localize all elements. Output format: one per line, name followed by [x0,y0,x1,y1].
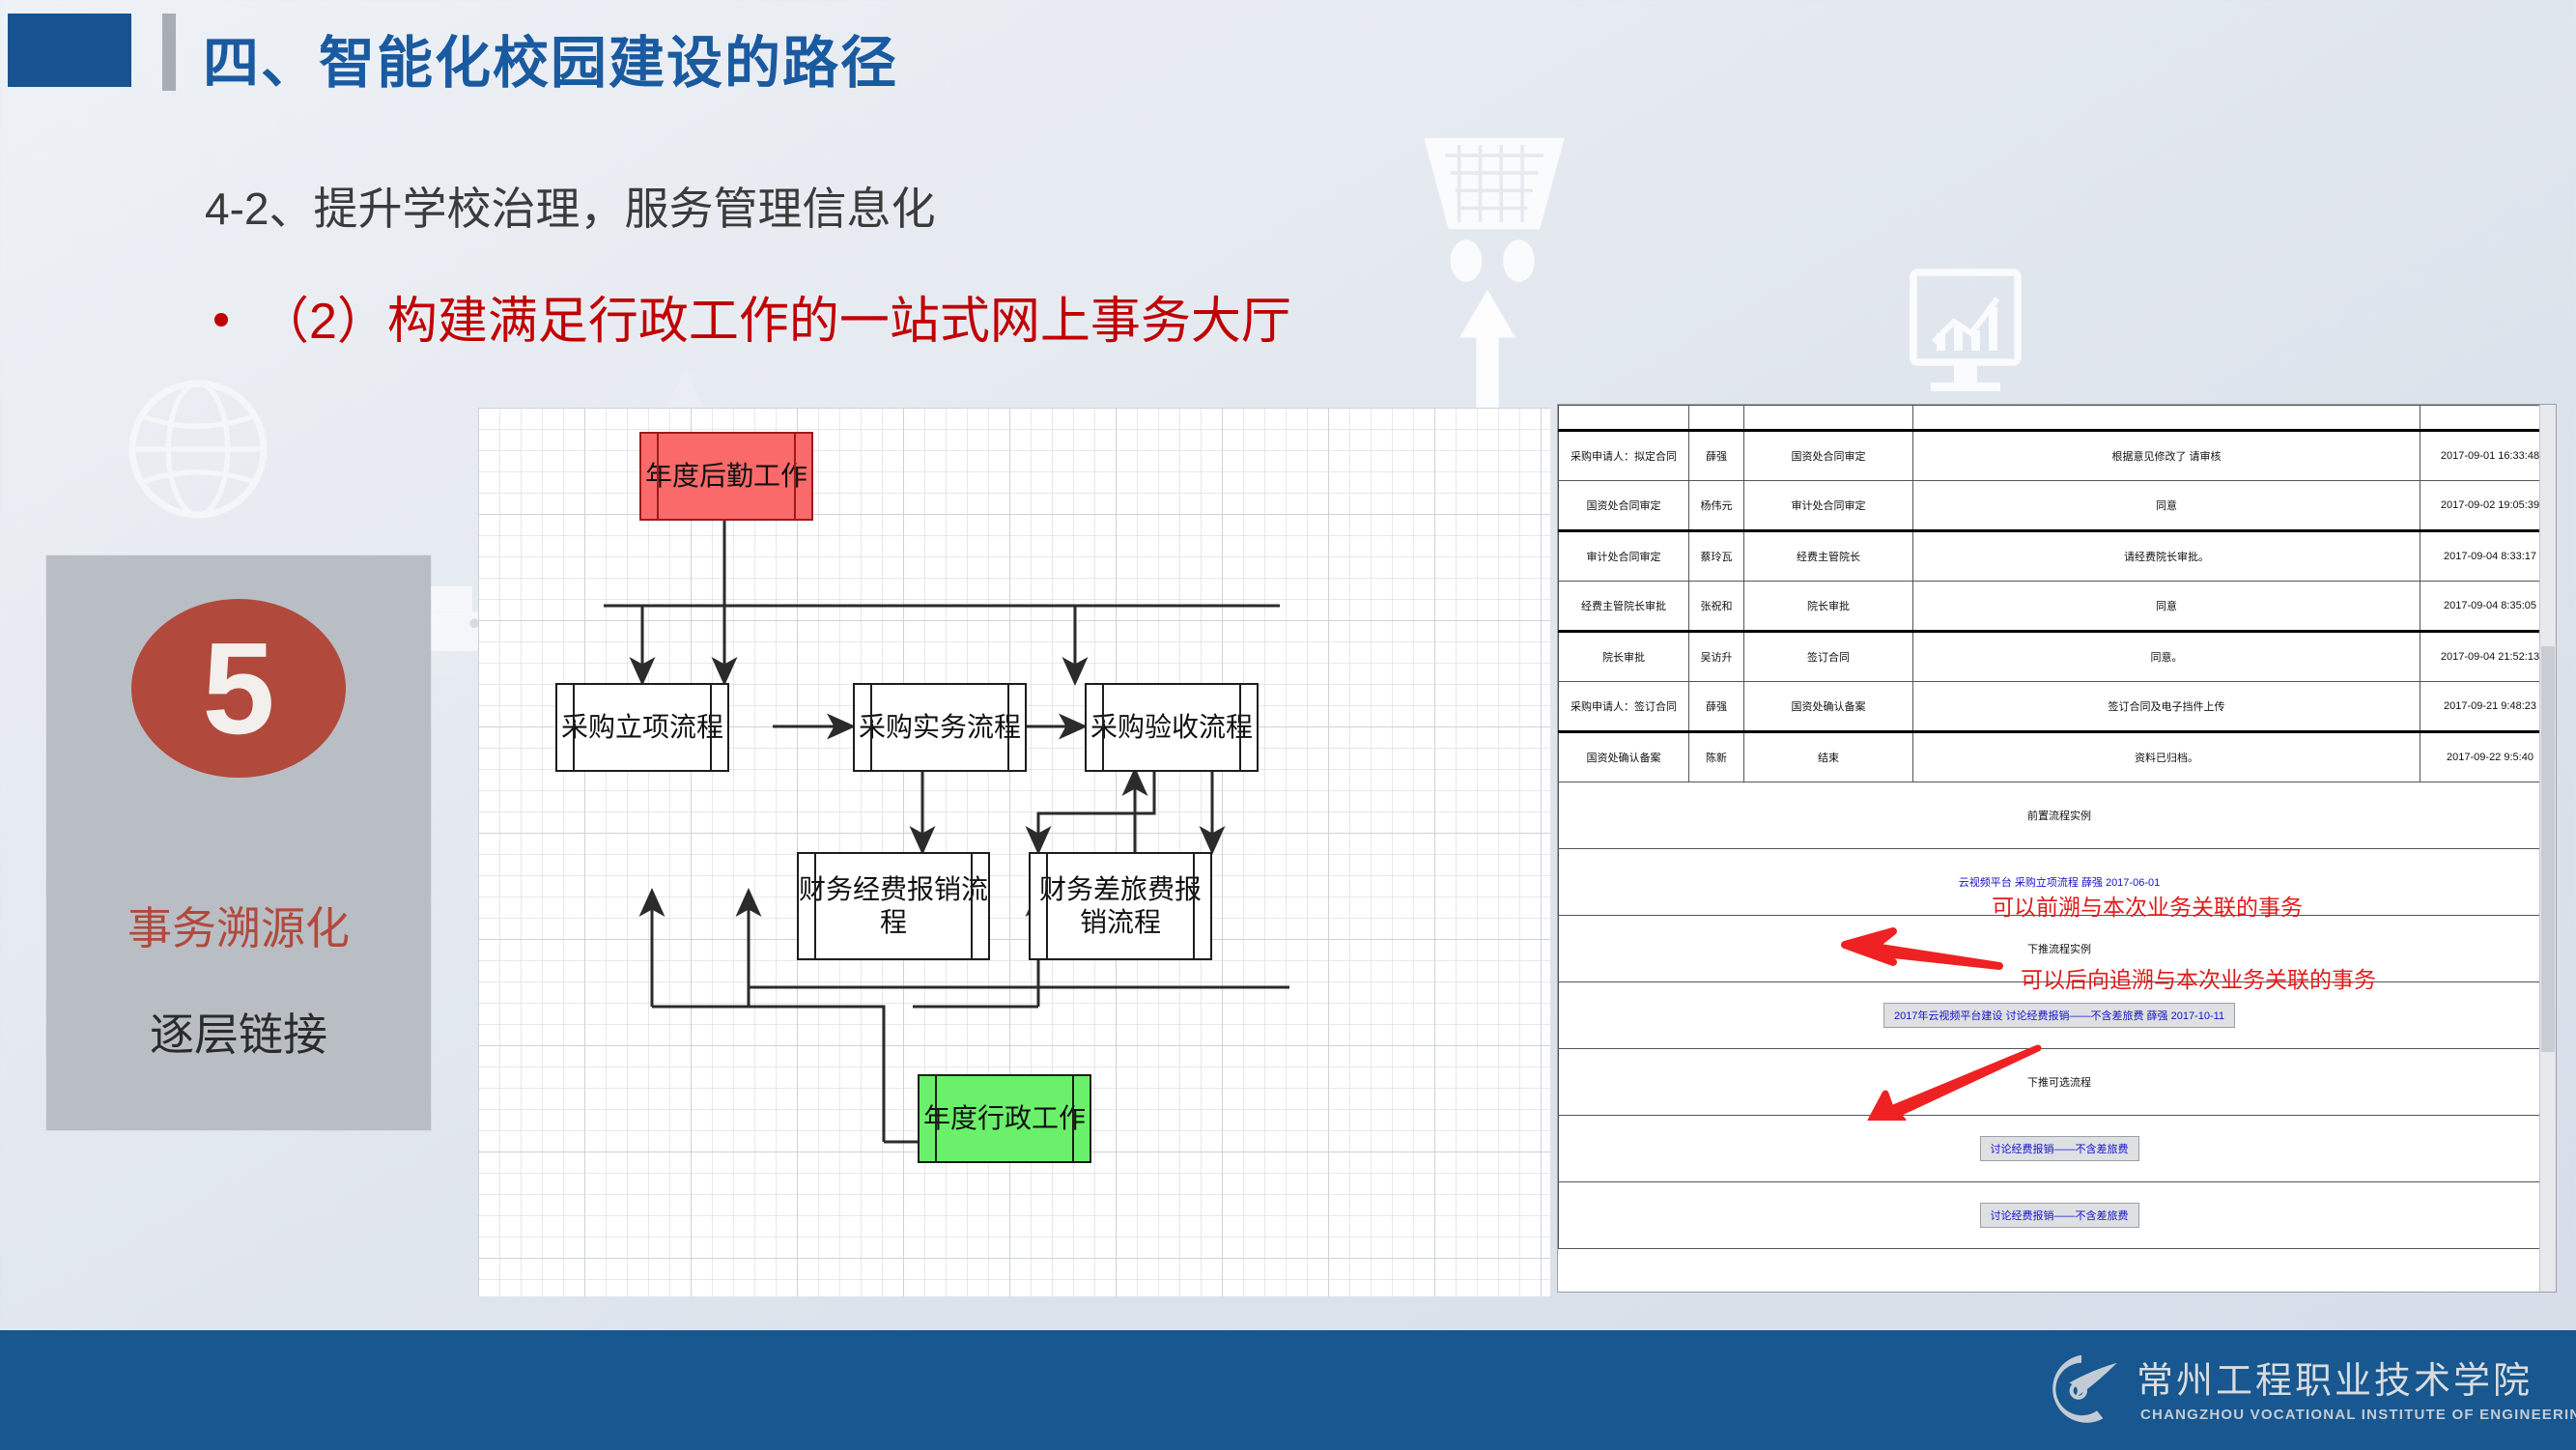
cell-user: 薛强 [1689,682,1744,732]
flow-node-root[interactable]: 年度后勤工作 [639,432,813,521]
table-scrollbar[interactable] [2539,405,2556,1293]
table-cell [1689,406,1744,431]
header-accent-bar [162,14,176,91]
cell-step: 审计处合同审定 [1559,531,1689,582]
bullet-dot-icon [214,313,228,327]
cell-next-step: 经费主管院长 [1744,531,1913,582]
footer-name-en: CHANGZHOU VOCATIONAL INSTITUTE OF ENGINE… [2140,1407,2576,1423]
flow-node-bottom[interactable]: 年度行政工作 [918,1074,1091,1163]
row-push-option-1: 讨论经费报销——不含差旅费 [1559,1116,2558,1182]
header-accent-square [8,14,131,87]
annotation-backward-trace: 可以后向追溯与本次业务关联的事务 [2021,961,2376,994]
panel-red-label: 事务溯源化 [46,894,431,957]
cell-timestamp: 2017-09-04 8:35:05 [2420,582,2558,632]
cell-timestamp: 2017-09-04 21:52:13 [2420,632,2558,682]
cell-user: 蔡玲瓦 [1689,531,1744,582]
table-row: 采购申请人：拟定合同薛强国资处合同审定根据意见修改了 请审核2017-09-01… [1559,431,2558,481]
workflow-trace-rows: 采购申请人：拟定合同薛强国资处合同审定根据意见修改了 请审核2017-09-01… [1559,406,2558,1249]
cell-timestamp: 2017-09-02 19:05:39 [2420,481,2558,531]
flow-node-expense-reimbursement[interactable]: 财务经费报销流程 [797,852,990,960]
page-title: 四、智能化校园建设的路径 [203,17,898,99]
table-row: 经费主管院长审批张祝和院长审批同意2017-09-04 8:35:05 [1559,582,2558,632]
cell-step: 采购申请人：拟定合同 [1559,431,1689,481]
table-cell: 讨论经费报销——不含差旅费 [1559,1116,2558,1182]
chart-monitor-icon [1893,261,2038,406]
cell-comment: 请经费院长审批。 [1913,531,2420,582]
cell-timestamp: 2017-09-22 9:5:40 [2420,732,2558,782]
flow-node-procurement-practice[interactable]: 采购实务流程 [853,683,1027,772]
table-row: 采购申请人：签订合同薛强国资处确认备案签订合同及电子挡件上传2017-09-21… [1559,682,2558,732]
table-cell [2420,406,2558,431]
footer-name-cn: 常州工程职业技术学院 [2137,1350,2533,1404]
cell-comment: 同意 [1913,481,2420,531]
university-logo-icon [2040,1350,2123,1428]
cell-timestamp: 2017-09-01 16:33:48 [2420,431,2558,481]
cell-step: 院长审批 [1559,632,1689,682]
table-cell [1744,406,1913,431]
cell-next-step: 审计处合同审定 [1744,481,1913,531]
annotation-forward-trace: 可以前溯与本次业务关联的事务 [1992,889,2303,922]
cell-next-step: 国资处合同审定 [1744,431,1913,481]
link-push-option-1[interactable]: 讨论经费报销——不含差旅费 [1991,1144,2129,1155]
flow-node-procurement-acceptance[interactable]: 采购验收流程 [1085,683,1259,772]
cell-user: 薛强 [1689,431,1744,481]
table-row-clipped [1559,406,2558,431]
flowchart-connectors [478,408,1550,1296]
cell-timestamp: 2017-09-04 8:33:17 [2420,531,2558,582]
cell-comment: 同意。 [1913,632,2420,682]
cell-step: 国资处确认备案 [1559,732,1689,782]
table-cell: 讨论经费报销——不含差旅费 [1559,1182,2558,1249]
panel-number-badge: 5 [131,599,346,778]
button-push-option-1[interactable]: 讨论经费报销——不含差旅费 [1980,1136,2139,1161]
cell-comment: 资料已归档。 [1913,732,2420,782]
table-row: 国资处确认备案陈新结束资料已归档。2017-09-22 9:5:40 [1559,732,2558,782]
flow-node-procurement-initiation[interactable]: 采购立项流程 [555,683,729,772]
button-push-option-2[interactable]: 讨论经费报销——不含差旅费 [1980,1203,2139,1228]
table-cell: 前置流程实例 [1559,782,2558,849]
workflow-trace-table-panel: 采购申请人：拟定合同薛强国资处合同审定根据意见修改了 请审核2017-09-01… [1557,404,2557,1293]
cell-timestamp: 2017-09-21 9:48:23 [2420,682,2558,732]
cell-user: 陈新 [1689,732,1744,782]
cell-step: 经费主管院长审批 [1559,582,1689,632]
row-push-option-2: 讨论经费报销——不含差旅费 [1559,1182,2558,1249]
flowchart-canvas: 年度后勤工作 采购立项流程 采购实务流程 采购验收流程 财务经费报销流程 财务差… [478,408,1550,1296]
cell-step: 国资处合同审定 [1559,481,1689,531]
flow-node-travel-reimbursement[interactable]: 财务差旅费报销流程 [1029,852,1212,960]
panel-dark-label: 逐层链接 [46,1000,431,1064]
row-section-prev: 前置流程实例 [1559,782,2558,849]
table-cell [1559,406,1689,431]
cell-next-step: 签订合同 [1744,632,1913,682]
table-row: 审计处合同审定蔡玲瓦经费主管院长请经费院长审批。2017-09-04 8:33:… [1559,531,2558,582]
cell-user: 张祝和 [1689,582,1744,632]
link-push-option-2[interactable]: 讨论经费报销——不含差旅费 [1991,1210,2129,1222]
shopping-cart-icon [1402,106,1586,299]
workflow-trace-table: 采购申请人：拟定合同薛强国资处合同审定根据意见修改了 请审核2017-09-01… [1558,405,2557,1249]
cell-next-step: 国资处确认备案 [1744,682,1913,732]
cell-comment: 签订合同及电子挡件上传 [1913,682,2420,732]
table-row: 院长审批吴访升签订合同同意。2017-09-04 21:52:13 [1559,632,2558,682]
globe-icon [116,367,280,531]
cell-user: 吴访升 [1689,632,1744,682]
cell-comment: 根据意见修改了 请审核 [1913,431,2420,481]
cell-next-step: 结束 [1744,732,1913,782]
cell-next-step: 院长审批 [1744,582,1913,632]
bullet-text: （2）构建满足行政工作的一站式网上事务大厅 [259,280,1291,353]
cell-comment: 同意 [1913,582,2420,632]
cell-step: 采购申请人：签订合同 [1559,682,1689,732]
table-row: 国资处合同审定杨伟元审计处合同审定同意2017-09-02 19:05:39 [1559,481,2558,531]
cell-user: 杨伟元 [1689,481,1744,531]
label-prev-flow: 前置流程实例 [2027,810,2091,822]
subtitle: 4-2、提升学校治理，服务管理信息化 [205,174,935,238]
table-cell [1913,406,2420,431]
